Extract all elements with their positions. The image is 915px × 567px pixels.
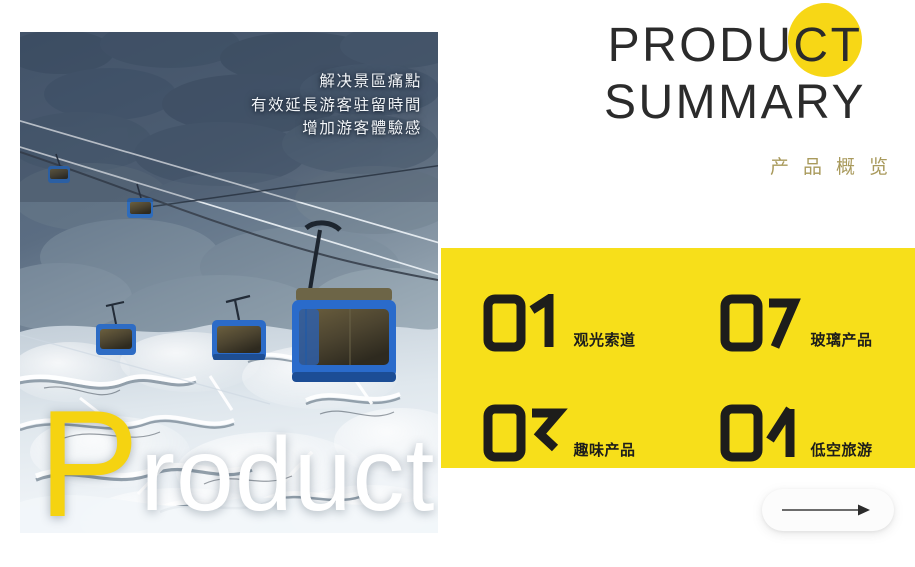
digit-glyph-04 bbox=[720, 404, 806, 462]
page-title: PRODUCT SUMMARY bbox=[560, 18, 910, 131]
item-label-04: 低空旅游 bbox=[810, 439, 872, 462]
caption-line-1: 解决景區痛點 bbox=[122, 70, 422, 94]
product-item-01[interactable]: 观光索道 bbox=[441, 248, 678, 358]
item-label-02: 玻璃产品 bbox=[810, 329, 872, 352]
page-subtitle: 产品概览 bbox=[560, 152, 906, 179]
product-items-panel: 观光索道 玻璃产品 bbox=[441, 248, 915, 468]
product-items-grid: 观光索道 玻璃产品 bbox=[441, 248, 915, 468]
page-title-line-1: PRODUCT bbox=[560, 18, 910, 75]
item-number-02 bbox=[720, 294, 806, 352]
digit-glyph-03 bbox=[483, 404, 569, 462]
product-item-03[interactable]: 趣味产品 bbox=[441, 358, 678, 468]
product-item-04[interactable]: 低空旅游 bbox=[678, 358, 915, 468]
item-number-01 bbox=[483, 294, 569, 352]
digit-glyph-02 bbox=[720, 294, 806, 352]
photo-caption: 解决景區痛點 有效延長游客驻留時間 增加游客體驗感 bbox=[122, 70, 422, 141]
item-label-01: 观光索道 bbox=[573, 329, 635, 352]
product-item-02[interactable]: 玻璃产品 bbox=[678, 248, 915, 358]
slide-canvas: 解决景區痛點 有效延長游客驻留時間 增加游客體驗感 Product PRODUC… bbox=[0, 0, 915, 567]
item-number-03 bbox=[483, 404, 569, 462]
watermark-rest: roduct bbox=[140, 417, 435, 533]
hero-photo: 解决景區痛點 有效延長游客驻留時間 增加游客體驗感 Product bbox=[20, 32, 438, 533]
page-title-line-2: SUMMARY bbox=[560, 75, 910, 132]
caption-line-3: 增加游客體驗感 bbox=[122, 117, 422, 141]
digit-glyph-01 bbox=[483, 294, 569, 352]
watermark-initial: P bbox=[38, 379, 140, 533]
arrow-right-icon bbox=[780, 502, 876, 518]
product-watermark: Product bbox=[38, 410, 435, 527]
item-number-04 bbox=[720, 404, 806, 462]
caption-line-2: 有效延長游客驻留時間 bbox=[122, 94, 422, 118]
item-label-03: 趣味产品 bbox=[573, 439, 635, 462]
next-slide-button[interactable] bbox=[762, 489, 894, 531]
